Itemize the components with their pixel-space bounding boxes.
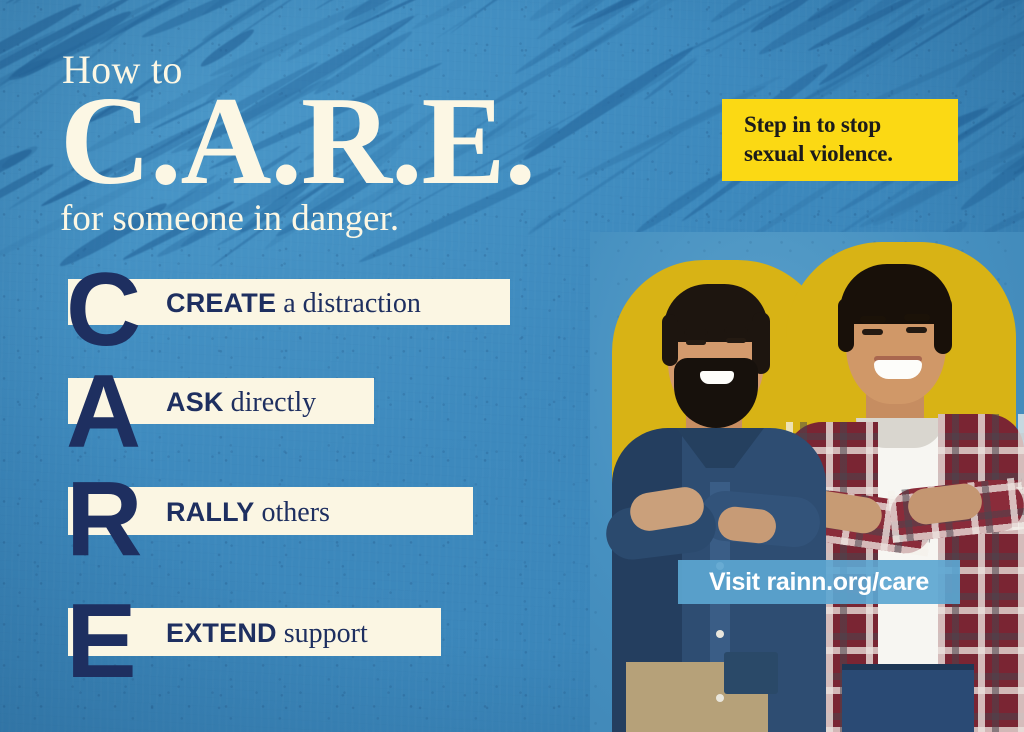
hair-side-right (934, 296, 952, 354)
care-step-detail: a distraction (276, 288, 421, 319)
care-step-detail: directly (224, 387, 317, 418)
care-step-keyword: CREATE (166, 288, 276, 318)
care-step-detail: support (277, 618, 368, 649)
visit-url-label: Visit rainn.org/care (709, 568, 929, 597)
care-step-initial: R (66, 466, 141, 572)
smile-mouth (874, 360, 922, 379)
smile-mouth (700, 371, 734, 384)
care-step-text: ASK directly (166, 389, 316, 417)
care-step-list: CCREATE a distractionAASK directlyRRALLY… (0, 0, 560, 732)
care-step-detail: others (255, 497, 330, 528)
eye-left (862, 329, 883, 335)
eye-left (686, 340, 706, 345)
eyebrow-left (684, 329, 708, 335)
care-step-initial: A (66, 360, 139, 464)
callout-badge: Step in to stop sexual violence. (722, 99, 958, 181)
care-step-text: EXTEND support (166, 620, 368, 648)
shirt-button (716, 630, 724, 638)
eye-right (726, 338, 746, 343)
care-step-keyword: EXTEND (166, 618, 277, 648)
hair-side-left (838, 298, 854, 352)
care-step-keyword: ASK (166, 387, 224, 417)
callout-badge-line2: sexual violence. (744, 140, 958, 169)
chest-pocket (724, 652, 778, 694)
callout-badge-line1: Step in to stop (744, 111, 958, 140)
eyebrow-right (724, 327, 748, 333)
eyebrow-left (860, 316, 886, 323)
blue-jeans (842, 670, 974, 732)
care-poster: How to C.A.R.E. for someone in danger. S… (0, 0, 1024, 732)
shirt-button (716, 694, 724, 702)
care-step-initial: E (66, 588, 135, 694)
eye-right (906, 327, 927, 333)
photo-two-men (590, 232, 1024, 732)
care-step-keyword: RALLY (166, 497, 255, 527)
care-step-text: CREATE a distraction (166, 290, 421, 318)
care-step-text: RALLY others (166, 499, 330, 527)
care-step-initial: C (66, 258, 139, 362)
visit-url-banner[interactable]: Visit rainn.org/care (678, 560, 960, 604)
hair-side-left (662, 314, 678, 366)
eyebrow-right (904, 314, 930, 321)
